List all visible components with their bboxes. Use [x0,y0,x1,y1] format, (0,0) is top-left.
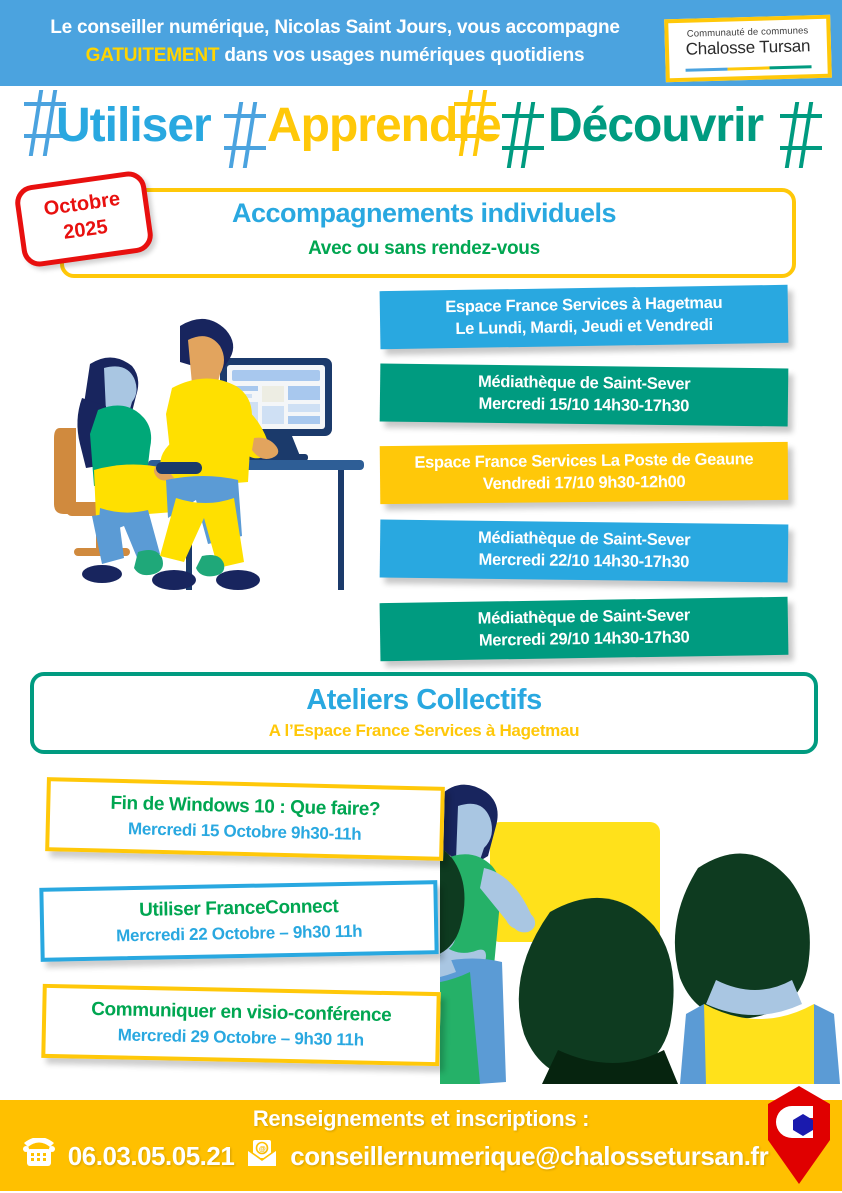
logo-bar-green [770,65,812,69]
header-tagline-line2: dans vos usages numériques quotidiens [219,45,584,66]
logo-bar-yellow [728,66,770,70]
map-pin-icon [762,1084,836,1188]
workshop-card: Communiquer en visio-conférence Mercredi… [41,984,440,1066]
header-tagline: Le conseiller numérique, Nicolas Saint J… [20,14,650,70]
footer-contact-row: 06.03.05.05.21 @ conseillernumerique@cha… [0,1138,790,1175]
collective-workshops-title: Ateliers Collectifs [30,684,818,717]
logo-color-bars [686,65,812,72]
workshop-title: Communiquer en visio-conférence [46,998,436,1028]
logo-bar-blue [686,68,728,72]
title-word-decouvrir: Découvrir [548,98,763,154]
schedule-bar: Médiathèque de Saint-Sever Mercredi 15/1… [380,364,789,427]
footer-email-address[interactable]: conseillernumerique@chalossetursan.fr [290,1141,768,1172]
illustration-workshop-group [440,772,842,1084]
hash-decoration-icon [452,88,498,162]
schedule-when: Mercredi 15/10 14h30-17h30 [380,394,788,418]
schedule-place: Espace France Services La Poste de Geaun… [380,450,788,473]
schedule-place: Espace France Services à Hagetmau [380,293,788,318]
schedule-place: Médiathèque de Saint-Sever [380,605,788,630]
hash-decoration-icon [222,100,268,174]
logo-line-2: Chalosse Tursan [669,36,827,60]
individual-schedule-list: Espace France Services à Hagetmau Le Lun… [380,288,800,678]
advisor-name: Nicolas Saint Jours [274,17,447,38]
schedule-bar: Espace France Services à Hagetmau Le Lun… [380,285,789,349]
schedule-when: Vendredi 17/10 9h30-12h00 [380,472,788,495]
schedule-place: Médiathèque de Saint-Sever [380,528,788,552]
svg-text:@: @ [259,1146,266,1153]
schedule-when: Mercredi 22/10 14h30-17h30 [380,550,788,574]
footer-phone-number[interactable]: 06.03.05.05.21 [68,1141,235,1172]
workshop-date: Mercredi 15 Octobre 9h30-11h [49,817,439,847]
workshop-card: Utiliser FranceConnect Mercredi 22 Octob… [39,880,438,962]
workshop-date: Mercredi 29 Octobre – 9h30 11h [46,1024,436,1052]
free-highlight: GATUITEMENT [86,45,220,66]
schedule-when: Mercredi 29/10 14h30-17h30 [380,627,788,652]
schedule-place: Médiathèque de Saint-Sever [380,372,788,396]
workshop-card: Fin de Windows 10 : Que faire? Mercredi … [45,777,445,861]
individual-support-subtitle: Avec ou sans rendez-vous [60,238,788,260]
telephone-icon [22,1138,56,1175]
workshop-date: Mercredi 22 Octobre – 9h30 11h [44,920,434,947]
illustration-helping-at-computer [52,302,392,622]
collective-workshops-subtitle: A l’Espace France Services à Hagetmau [30,721,818,741]
community-logo: Communauté de communes Chalosse Tursan [664,15,832,83]
envelope-icon: @ [246,1138,278,1175]
hash-decoration-icon [778,100,824,174]
header-tagline-suffix: , vous accompagne [447,17,620,38]
header-tagline-prefix: Le conseiller numérique, [50,17,274,38]
schedule-bar: Médiathèque de Saint-Sever Mercredi 22/1… [380,520,789,583]
schedule-bar: Médiathèque de Saint-Sever Mercredi 29/1… [380,597,789,661]
hash-decoration-icon [500,100,546,174]
footer-title: Renseignements et inscriptions : [0,1106,842,1132]
title-word-utiliser: Utiliser [56,98,211,154]
schedule-when: Le Lundi, Mardi, Jeudi et Vendredi [380,315,788,340]
schedule-bar: Espace France Services La Poste de Geaun… [380,442,789,504]
workshop-title: Utiliser FranceConnect [44,894,434,923]
individual-support-title: Accompagnements individuels [60,198,788,229]
